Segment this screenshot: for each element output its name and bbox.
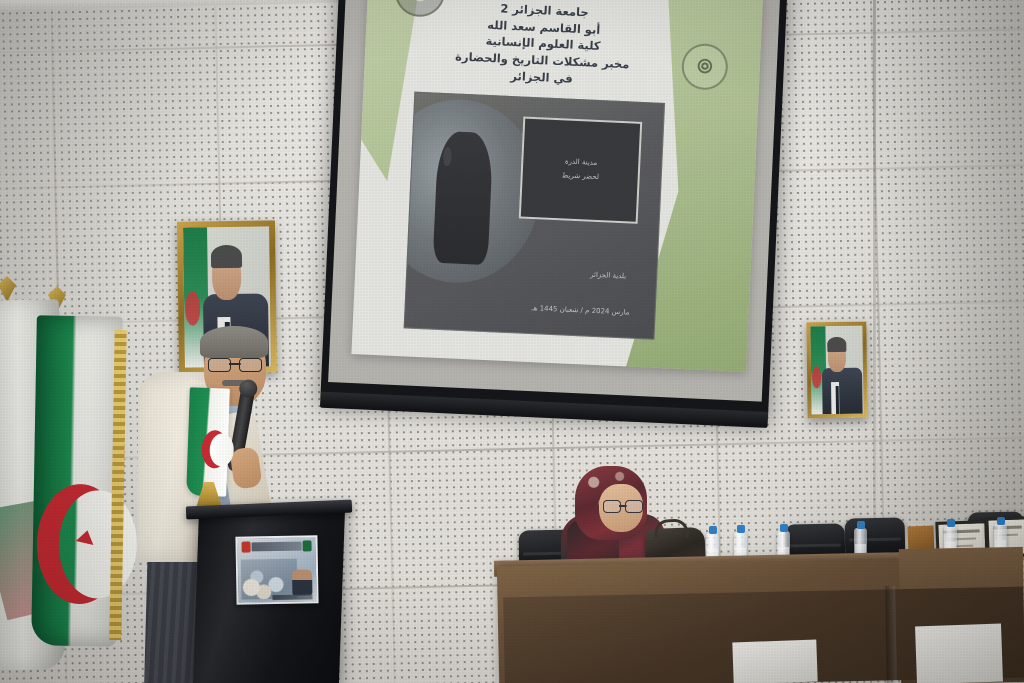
speaker-hair: [200, 326, 268, 358]
photo-person-figure: [433, 131, 494, 265]
algerian-desk-flag: [186, 387, 230, 496]
poster-logo-left-icon: [241, 541, 250, 552]
eyeglasses-icon: [603, 500, 643, 511]
portrait-canvas-small: [810, 326, 863, 415]
eyeglasses-icon: [208, 358, 262, 370]
podium-event-poster: [235, 535, 318, 604]
slide-photo-caption: بلدية الجزائر: [590, 271, 626, 281]
poster-logo-right-icon: [302, 540, 311, 551]
table-front-panel: [915, 624, 1003, 683]
portrait-necktie-small: [836, 386, 840, 414]
inner-card-line-1: مدينة الدرة: [565, 158, 598, 169]
slide-date-line: مارس 2024 م / شعبان 1445 هـ: [532, 304, 630, 316]
poster-photo-collage: [241, 559, 298, 600]
photo-person-head: [443, 147, 451, 166]
screen-surface: ● ⦾ جامعة الجزائر 2 أبو القاسم سعد الله …: [328, 0, 780, 402]
table-joint-seam: [885, 586, 897, 683]
portrait-hair: [211, 245, 242, 268]
presidential-portrait-small: [806, 322, 867, 419]
poster-portrait-thumb: [292, 569, 312, 595]
slide-heading: جامعة الجزائر 2 أبو القاسم سعد الله كلية…: [403, 0, 683, 92]
slide-inner-card: مدينة الدرة لحضر شريط: [519, 116, 642, 224]
table-front-panel: [732, 640, 817, 683]
projected-slide: ● ⦾ جامعة الجزائر 2 أبو القاسم سعد الله …: [351, 0, 763, 372]
slide-photo: مدينة الدرة لحضر شريط بلدية الجزائر مارس…: [404, 91, 665, 339]
poster-title-band: [252, 542, 302, 552]
portrait-hair-small: [827, 337, 846, 351]
poster-caption-band: [272, 594, 312, 600]
portrait-torso-small: [822, 368, 862, 414]
conference-hall-photo: ● ⦾ جامعة الجزائر 2 أبو القاسم سعد الله …: [0, 0, 1024, 683]
inner-card-line-2: لحضر شريط: [562, 172, 600, 183]
projection-screen: ● ⦾ جامعة الجزائر 2 أبو القاسم سعد الله …: [320, 0, 787, 420]
